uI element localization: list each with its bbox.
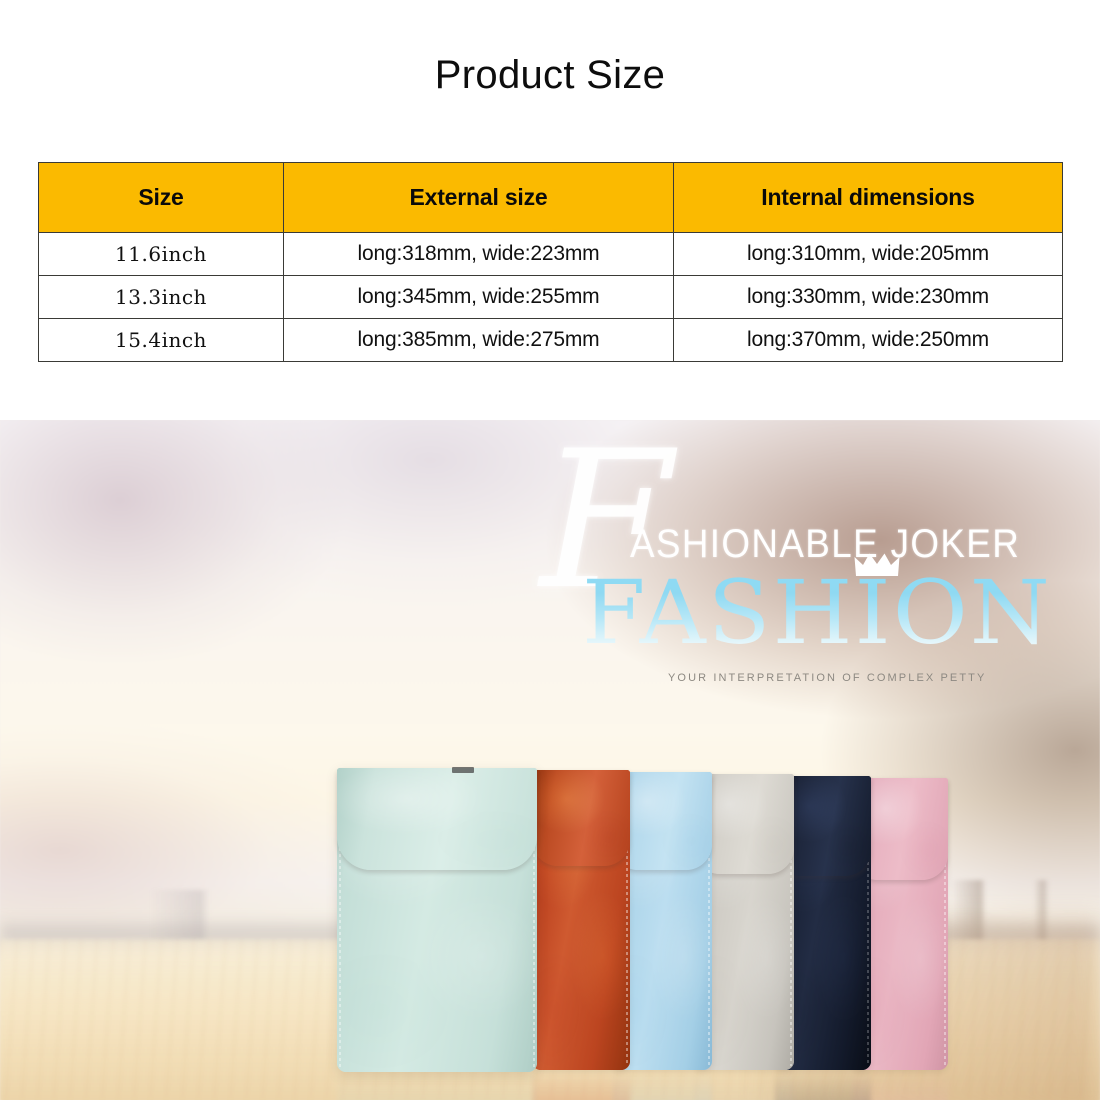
cell-size: 13.3inch [39, 276, 284, 319]
table-header-external-size: External size [284, 163, 674, 233]
table-row: 13.3inch long:345mm, wide:255mm long:330… [39, 276, 1063, 319]
table-header-internal-dimensions: Internal dimensions [674, 163, 1063, 233]
table-header-row: Size External size Internal dimensions [39, 163, 1063, 233]
cell-external: long:385mm, wide:275mm [284, 319, 674, 362]
reflection-orange [532, 1070, 630, 1100]
cell-size: 11.6inch [39, 233, 284, 276]
brand-lockup: F ASHIONABLE JOKER FASHION YOUR INTERPRE… [520, 440, 1060, 720]
cell-internal: long:330mm, wide:230mm [674, 276, 1063, 319]
cell-size: 15.4inch [39, 319, 284, 362]
cell-external: long:318mm, wide:223mm [284, 233, 674, 276]
sleeve-flap [532, 770, 630, 866]
table-header-size: Size [39, 163, 284, 233]
product-mint-green-sleeve [337, 768, 537, 1072]
table-row: 11.6inch long:318mm, wide:223mm long:310… [39, 233, 1063, 276]
table-row: 15.4inch long:385mm, wide:275mm long:370… [39, 319, 1063, 362]
brand-wordmark-fashion: FASHION [582, 568, 1052, 658]
cell-internal: long:370mm, wide:250mm [674, 319, 1063, 362]
reflection-mint-green [337, 1072, 537, 1100]
crown-icon [854, 552, 900, 578]
product-hero-photo: F ASHIONABLE JOKER FASHION YOUR INTERPRE… [0, 420, 1100, 1100]
flap-grain [532, 770, 630, 866]
product-size-table: Size External size Internal dimensions 1… [38, 162, 1063, 362]
sleeve-flap [337, 768, 537, 870]
cell-external: long:345mm, wide:255mm [284, 276, 674, 319]
cell-internal: long:310mm, wide:205mm [674, 233, 1063, 276]
product-size-page: Product Size Size External size Internal… [0, 0, 1100, 1100]
product-orange-sleeve [532, 770, 630, 1070]
brand-wordmark-wrap: FASHION [582, 568, 1012, 658]
flap-grain [337, 768, 537, 870]
clasp-detail [452, 767, 474, 773]
brand-tagline: YOUR INTERPRETATION OF COMPLEX PETTY [668, 672, 986, 684]
page-title: Product Size [0, 50, 1100, 100]
